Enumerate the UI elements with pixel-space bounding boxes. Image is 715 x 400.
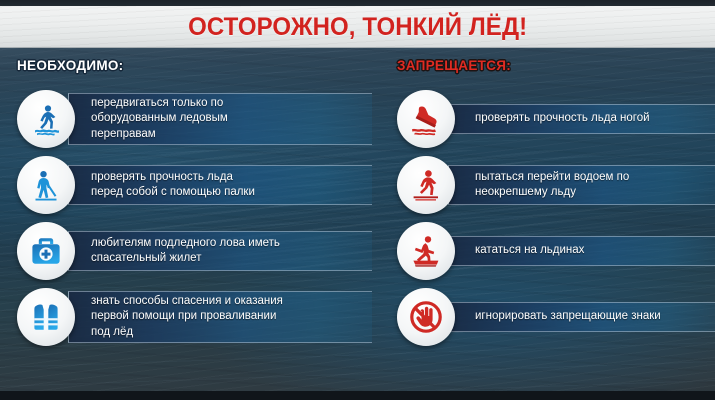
list-item-label: проверять прочность льда ногой [475,111,650,126]
person-walking-on-ice-crossing-icon [29,102,63,136]
list-item: кататься на льдинах [380,220,715,282]
icon-badge [17,222,75,280]
list-item: проверять прочность льда перед собой с п… [0,154,372,216]
list-item-label: передвигаться только по оборудованным ле… [91,96,228,142]
list-item: любителям подледного лова иметь спасател… [0,220,372,282]
list-item-label: знать способы спасения и оказания первой… [91,294,283,340]
title-band: ОСТОРОЖНО, ТОНКИЙ ЛЁД! [0,6,715,48]
list-item: проверять прочность льда ногой [380,88,715,150]
content-columns: НЕОБХОДИМО: передвигаться только по обор… [0,48,715,393]
icon-badge [17,90,75,148]
icon-badge [397,90,455,148]
item-text-plate: передвигаться только по оборудованным ле… [68,93,372,145]
list-item-label: кататься на льдинах [475,243,584,258]
column-forbidden-heading: ЗАПРЕЩАЕТСЯ: [397,58,511,73]
item-text-plate: кататься на льдинах [448,236,715,266]
item-text-plate: пытаться перейти водоем по неокрепшему л… [448,165,715,205]
list-item-label: игнорировать запрещающие знаки [475,309,661,324]
list-item-label: любителям подледного лова иметь спасател… [91,236,280,267]
person-riding-ice-floe-icon [409,234,443,268]
icon-badge [397,222,455,280]
icon-badge [17,156,75,214]
list-item-label: проверять прочность льда перед собой с п… [91,170,255,201]
list-item-label: пытаться перейти водоем по неокрепшему л… [475,170,629,201]
list-item: пытаться перейти водоем по неокрепшему л… [380,154,715,216]
page-title: ОСТОРОЖНО, ТОНКИЙ ЛЁД! [188,13,527,42]
item-text-plate: проверять прочность льда перед собой с п… [68,165,372,205]
life-vest-icon [29,300,63,334]
item-text-plate: любителям подледного лова иметь спасател… [68,231,372,271]
first-aid-kit-icon [29,234,63,268]
icon-badge [397,156,455,214]
item-text-plate: знать способы спасения и оказания первой… [68,291,372,343]
person-walking-on-thin-ice-icon [409,168,443,202]
icon-badge [397,288,455,346]
list-item: игнорировать запрещающие знаки [380,286,715,348]
column-allowed-heading: НЕОБХОДИМО: [17,58,123,73]
icon-badge [17,288,75,346]
poster-root: ОСТОРОЖНО, ТОНКИЙ ЛЁД! НЕОБХОДИМО: [0,0,715,400]
item-text-plate: проверять прочность льда ногой [448,104,715,134]
list-item: знать способы спасения и оказания первой… [0,286,372,348]
person-with-stick-probing-ice-icon [29,168,63,202]
list-item: передвигаться только по оборудованным ле… [0,88,372,150]
boot-stomping-cracking-ice-icon [409,102,443,136]
item-text-plate: игнорировать запрещающие знаки [448,302,715,332]
bottom-edge-bar [0,391,715,400]
no-hand-prohibition-sign-icon [409,300,443,334]
